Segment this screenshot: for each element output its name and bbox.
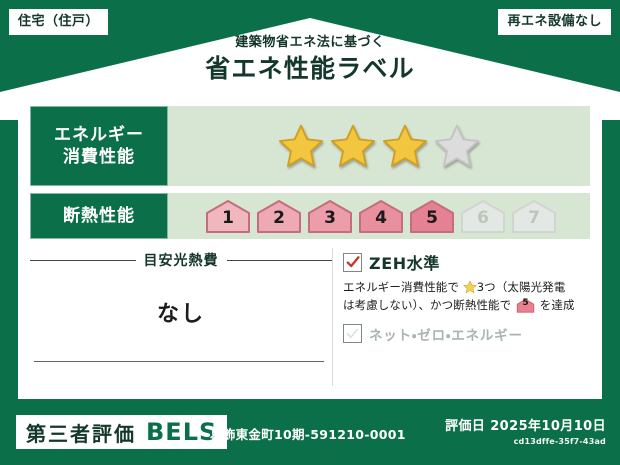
insulation-level-badge: 5 xyxy=(408,198,456,234)
insulation-level-value: 4 xyxy=(375,210,387,234)
insulation-level-scale: 1234567 xyxy=(168,193,590,239)
evaluation-hash: cd13dffe-35f7-43ad xyxy=(445,437,606,446)
utility-cost-heading-text: 目安光熱費 xyxy=(144,250,219,270)
check-icon-disabled xyxy=(346,327,359,340)
insulation-level-value: 6 xyxy=(477,210,489,234)
insulation-badge-inline: 5 xyxy=(516,298,535,313)
bels-jp-label: 第三者評価 xyxy=(26,418,136,447)
main-panel: エネルギー 消費性能 断熱性能 1234567 目安光熱費 なし xyxy=(18,96,602,399)
zeh-block: ZEH水準 エネルギー消費性能で 3つ（太陽光発電 は考慮しない）、かつ断熱性能… xyxy=(343,246,590,388)
net-zero-energy-row: ネット・ゼロ・エネルギー xyxy=(343,324,590,344)
footer-bar: 第三者評価 BELS 葛飾東金町10期-591210-0001 評価日 2025… xyxy=(0,403,620,465)
zeh-desc-pre: エネルギー消費性能で xyxy=(343,280,459,294)
bels-badge: 第三者評価 BELS xyxy=(16,415,227,449)
badge-renewable-energy: 再エネ設備なし xyxy=(497,8,612,36)
zeh-desc-line2-post: を達成 xyxy=(540,298,575,312)
insulation-level-badge: 2 xyxy=(255,198,303,234)
zeh-title: ZEH水準 xyxy=(369,250,440,274)
row-energy-label-line1: エネルギー xyxy=(54,124,144,146)
building-identifier: 葛飾東金町10期-591210-0001 xyxy=(210,424,406,443)
zeh-checkbox[interactable] xyxy=(343,253,362,272)
row-insulation-label: 断熱性能 xyxy=(30,193,168,239)
title-subtitle: 建築物省エネ法に基づく xyxy=(0,36,620,50)
check-icon xyxy=(346,255,360,269)
insulation-level-badge: 7 xyxy=(510,198,558,234)
utility-cost-block: 目安光熱費 なし xyxy=(30,246,332,388)
star-rating xyxy=(168,106,590,186)
utility-cost-bottom-rule xyxy=(34,361,324,362)
star-filled-icon xyxy=(277,123,325,169)
rule-left xyxy=(30,260,136,261)
star-icon xyxy=(463,280,477,294)
lower-section: 目安光熱費 なし ZEH水準 エネルギー消費性能で xyxy=(30,246,590,388)
insulation-level-value: 1 xyxy=(222,210,234,234)
star-empty-icon xyxy=(433,123,481,169)
page-title: 省エネ性能ラベル xyxy=(0,53,620,84)
net-zero-energy-label: ネット・ゼロ・エネルギー xyxy=(369,324,523,344)
evaluation-date: 評価日 2025年10月10日 xyxy=(445,415,606,434)
net-zero-energy-checkbox[interactable] xyxy=(343,324,362,343)
insulation-level-value: 3 xyxy=(324,210,336,234)
insulation-level-badge: 6 xyxy=(459,198,507,234)
zeh-desc-line2-pre: は考慮しない）、かつ断熱性能で xyxy=(343,298,511,312)
utility-cost-heading: 目安光熱費 xyxy=(30,250,332,270)
insulation-level-badge: 1 xyxy=(204,198,252,234)
insulation-level-value: 2 xyxy=(273,210,285,234)
zeh-desc-mid: 3つ（太陽光発電 xyxy=(477,280,566,294)
row-energy-performance: エネルギー 消費性能 xyxy=(30,106,590,186)
badge-building-type: 住宅（住戸） xyxy=(8,8,109,36)
column-divider xyxy=(332,248,333,386)
utility-cost-value: なし xyxy=(30,296,332,328)
insulation-level-badge: 4 xyxy=(357,198,405,234)
star-filled-icon xyxy=(329,123,377,169)
rule-right xyxy=(227,260,333,261)
zeh-description: エネルギー消費性能で 3つ（太陽光発電 は考慮しない）、かつ断熱性能で 5 を達… xyxy=(343,279,590,315)
row-insulation-performance: 断熱性能 1234567 xyxy=(30,193,590,239)
row-energy-label: エネルギー 消費性能 xyxy=(30,106,168,186)
evaluation-info: 評価日 2025年10月10日 cd13dffe-35f7-43ad xyxy=(445,415,606,446)
insulation-level-badge: 3 xyxy=(306,198,354,234)
zeh-heading: ZEH水準 xyxy=(343,250,590,274)
insulation-level-value: 5 xyxy=(426,210,438,234)
energy-performance-label: 住宅（住戸） 再エネ設備なし 建築物省エネ法に基づく 省エネ性能ラベル エネルギ… xyxy=(0,0,620,465)
title-block: 建築物省エネ法に基づく 省エネ性能ラベル xyxy=(0,36,620,85)
insulation-level-value: 7 xyxy=(528,210,540,234)
row-energy-label-line2: 消費性能 xyxy=(54,146,144,168)
star-filled-icon xyxy=(381,123,429,169)
insulation-badge-inline-value: 5 xyxy=(516,298,535,313)
bels-logo: BELS xyxy=(146,418,217,446)
